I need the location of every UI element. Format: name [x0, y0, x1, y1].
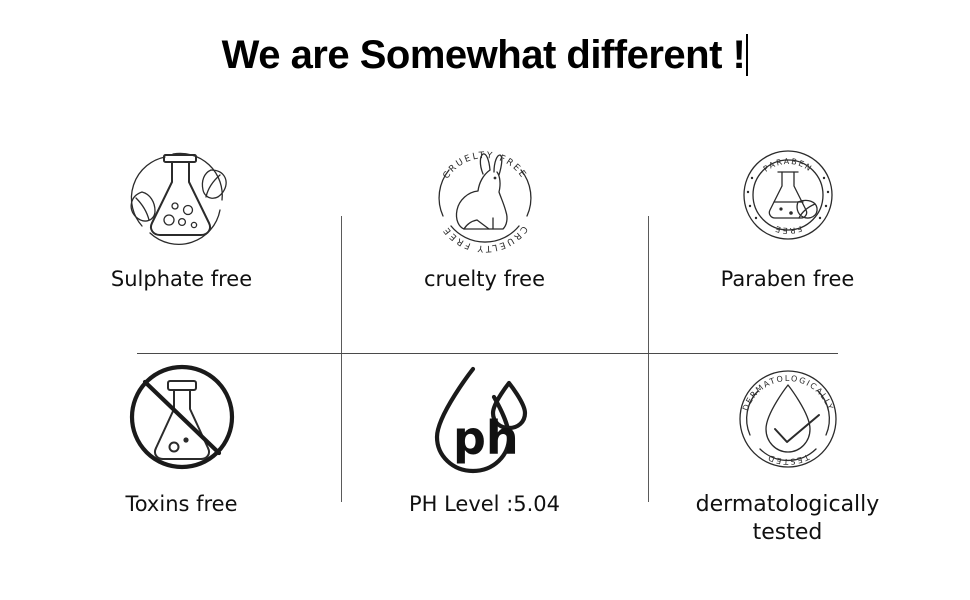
page-title[interactable]: We are Somewhat different ! [0, 24, 970, 86]
feature-cell-sulphate-free[interactable]: Sulphate free [30, 130, 333, 355]
rabbit-cruelty-free-stamp-icon: CRUELTY FREE CRUELTY FREE [415, 130, 555, 260]
flask-prohibited-icon [112, 355, 252, 485]
feature-label: PH Level :5.04 [409, 491, 560, 517]
flask-leaves-circle-icon [112, 130, 252, 260]
ph-label: ph [453, 411, 519, 465]
feature-label: Paraben free [721, 266, 855, 292]
feature-cell-paraben-free[interactable]: PARABEN FREE Paraben free [636, 130, 939, 355]
feature-cell-ph-level[interactable]: ph PH Level :5.04 [333, 355, 636, 580]
feature-label: cruelty free [424, 266, 545, 292]
badge-arc-text-bottom: CRUELTY FREE [441, 224, 529, 254]
drop-check-dermatologically-tested-stamp-icon: DERMATOLOGICALLY TESTED [718, 355, 858, 485]
text-cursor-caret [746, 34, 748, 76]
badge-arc-text-top: PARABEN [761, 157, 814, 174]
water-drop-ph-icon: ph [415, 355, 555, 485]
feature-cell-toxins-free[interactable]: Toxins free [30, 355, 333, 580]
vertical-divider-left [341, 216, 342, 502]
horizontal-divider [137, 353, 838, 354]
feature-row-2: Toxins free ph PH Level :5.04 [30, 355, 940, 580]
flask-leaf-paraben-stamp-icon: PARABEN FREE [718, 130, 858, 260]
page-title-text: We are Somewhat different ! [222, 35, 746, 75]
feature-grid: Sulphate free CRUELTY FREE [30, 130, 940, 580]
feature-cell-dermatologically-tested[interactable]: DERMATOLOGICALLY TESTED dermatologically… [636, 355, 939, 580]
feature-cell-cruelty-free[interactable]: CRUELTY FREE CRUELTY FREE cruelty free [333, 130, 636, 355]
slide-canvas: We are Somewhat different ! [0, 0, 970, 600]
feature-label: Sulphate free [111, 266, 252, 292]
feature-row-1: Sulphate free CRUELTY FREE [30, 130, 940, 355]
vertical-divider-right [648, 216, 649, 502]
badge-arc-text-top: DERMATOLOGICALLY [740, 374, 834, 412]
feature-label: dermatologically tested [668, 491, 908, 546]
badge-arc-text-top: CRUELTY FREE [441, 151, 528, 181]
feature-label: Toxins free [125, 491, 237, 517]
